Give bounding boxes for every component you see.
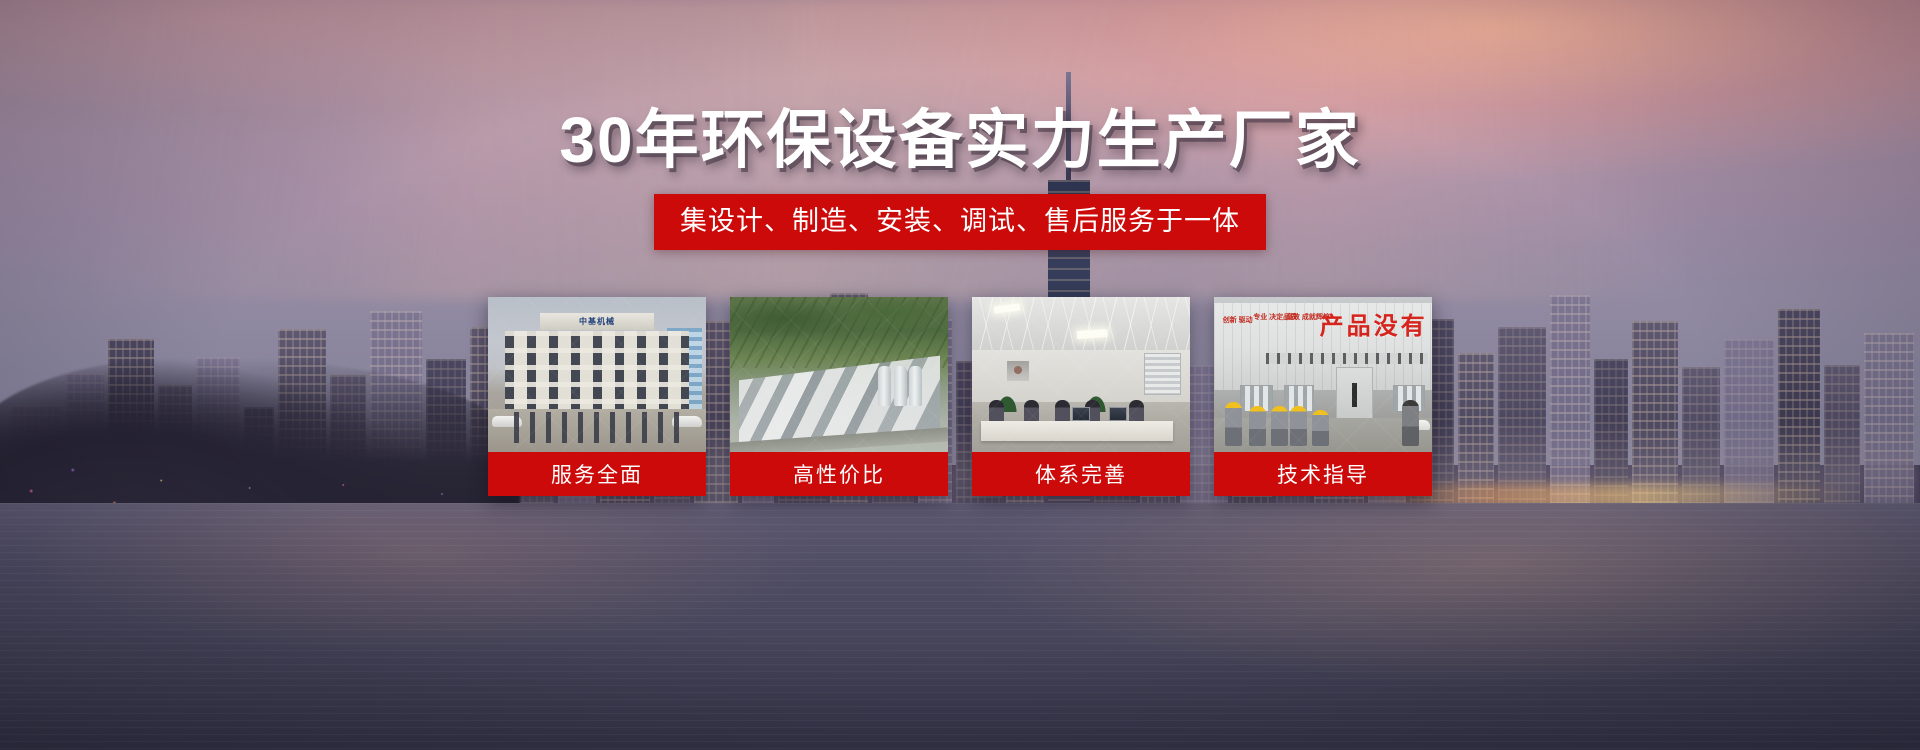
banner-subtitle-badge: 集设计、制造、安装、调试、售后服务于一体: [654, 194, 1266, 250]
banner-content: 30年环保设备实力生产厂家 集设计、制造、安装、调试、售后服务于一体 中基机械: [0, 0, 1920, 750]
card-caption: 高性价比: [730, 452, 948, 496]
card-photo-office-interior: [972, 297, 1190, 452]
card-caption: 技术指导: [1214, 452, 1432, 496]
hero-banner: 30年环保设备实力生产厂家 集设计、制造、安装、调试、售后服务于一体 中基机械: [0, 0, 1920, 750]
feature-card[interactable]: 创新 驱动 专业 决定品质 高效 成就辉煌 产品没有: [1214, 297, 1432, 496]
banner-headline: 30年环保设备实力生产厂家: [559, 108, 1360, 172]
card-caption: 体系完善: [972, 452, 1190, 496]
building-roof-sign: 中基机械: [540, 313, 653, 330]
card-photo-factory-exterior: 创新 驱动 专业 决定品质 高效 成就辉煌 产品没有: [1214, 297, 1432, 452]
card-photo-office-building: 中基机械: [488, 297, 706, 452]
feature-card[interactable]: 高性价比: [730, 297, 948, 496]
feature-card-list: 中基机械 服务全面: [488, 297, 1432, 496]
building-roof-sign-text: 中基机械: [540, 313, 653, 330]
card-photo-aerial-site: [730, 297, 948, 452]
feature-card[interactable]: 体系完善: [972, 297, 1190, 496]
factory-wall-sign: 产品没有: [1320, 306, 1428, 341]
card-caption: 服务全面: [488, 452, 706, 496]
feature-card[interactable]: 中基机械 服务全面: [488, 297, 706, 496]
factory-slogan-1: 创新 驱动: [1223, 317, 1253, 326]
